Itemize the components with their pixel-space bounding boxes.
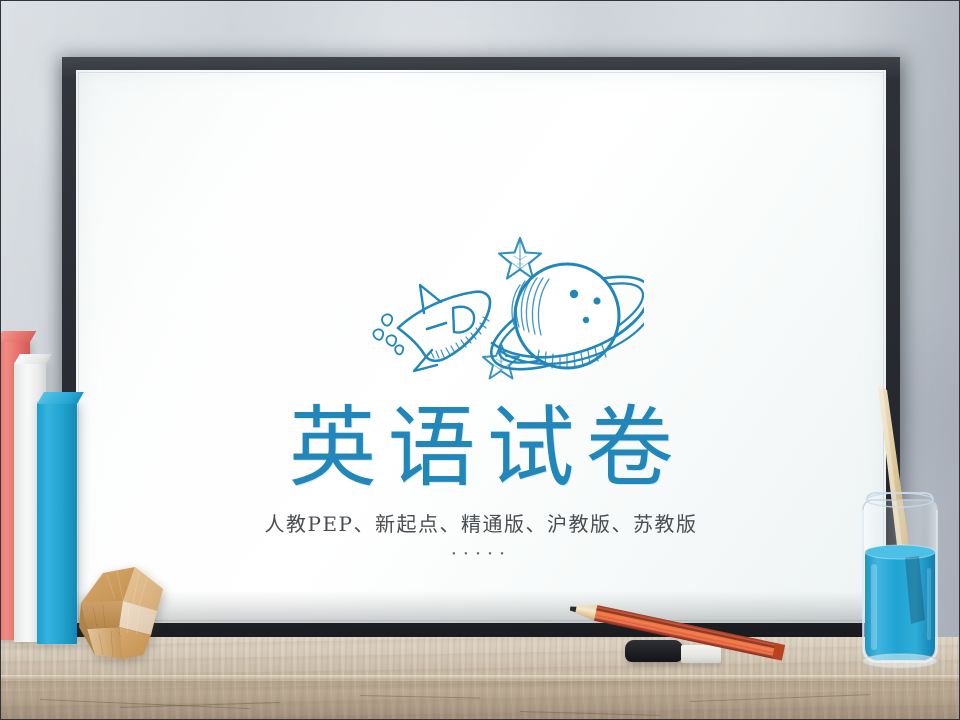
- star-bottom-icon: [483, 344, 519, 379]
- orange-pencil: [570, 596, 800, 668]
- table-front-edge: [0, 681, 960, 720]
- subtitle: 人教PEP、新起点、精通版、沪教版、苏教版: [76, 509, 886, 539]
- rocket-icon: [373, 285, 490, 371]
- jar-liquid: [865, 545, 935, 660]
- book-blue: [37, 402, 77, 644]
- whiteboard-frame: 英语试卷 人教PEP、新起点、精通版、沪教版、苏教版 ·····: [62, 57, 900, 637]
- table-edge-highlight: [0, 675, 960, 680]
- book-red-top: [0, 331, 36, 342]
- book-white-top: [14, 354, 52, 364]
- space-doodle-group: [324, 168, 644, 398]
- title-block: 英语试卷 人教PEP、新起点、精通版、沪教版、苏教版 ·····: [76, 400, 886, 567]
- star-top-icon: [499, 238, 541, 279]
- book-blue-top: [37, 392, 84, 404]
- whiteboard-surface: 英语试卷 人教PEP、新起点、精通版、沪教版、苏教版 ·····: [76, 70, 886, 623]
- subtitle-ellipsis: ·····: [76, 541, 886, 568]
- slide-screenshot: 英语试卷 人教PEP、新起点、精通版、沪教版、苏教版 ·····: [0, 0, 960, 720]
- wooden-polyhedron: [73, 555, 171, 665]
- page-title: 英语试卷: [76, 400, 886, 497]
- glass-jar-with-brush: [845, 382, 953, 674]
